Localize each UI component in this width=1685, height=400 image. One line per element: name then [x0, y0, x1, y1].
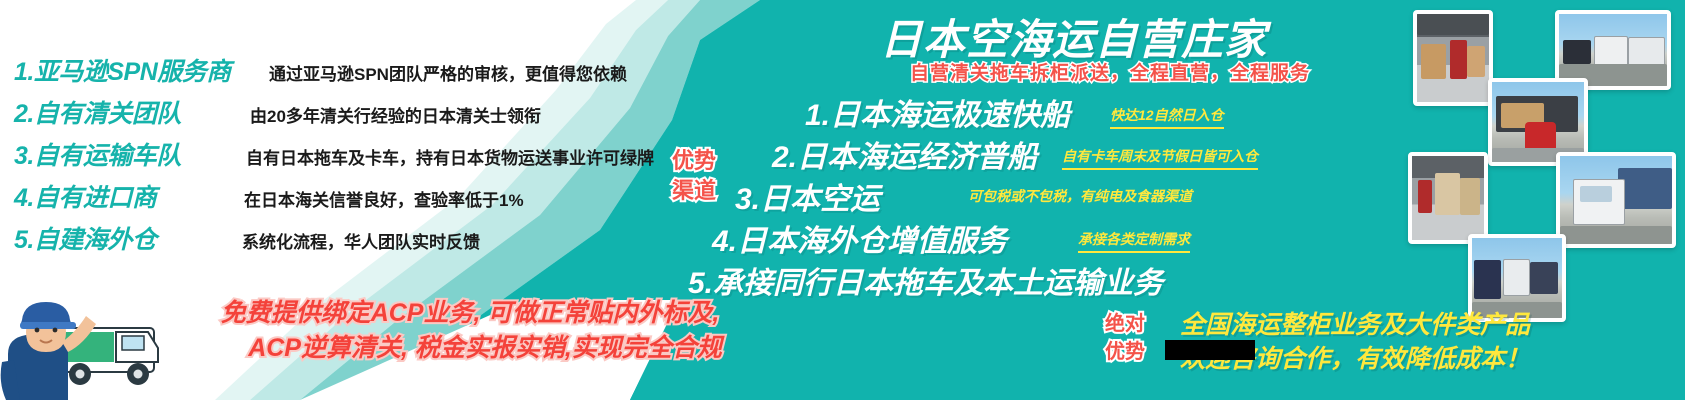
feature-1-title: 1.亚马逊SPN服务商 [14, 52, 269, 88]
feature-row-2: 2.自有清关团队 由20多年清关行经验的日本清关士领衔 [14, 94, 694, 136]
redaction-bar [1165, 340, 1255, 360]
service-3-tag: 可包税或不包税，有纯电及食器渠道 [968, 186, 1192, 208]
service-1-label: 1.日本海运极速快船 [805, 99, 1070, 132]
service-4-label: 4.日本海外仓增值服务 [712, 225, 1007, 258]
banner-subtitle: 自营清关拖车拆柜派送，全程直营，全程服务 [910, 58, 1310, 85]
service-row-1: 1.日本海运极速快船 [805, 90, 1070, 134]
photo-warehouse-pallet-worker [1413, 10, 1493, 106]
service-row-3: 3.日本空运 [735, 174, 880, 218]
service-5-label: 5.承接同行日本拖车及本土运输业务 [688, 267, 1163, 300]
feature-row-1: 1.亚马逊SPN服务商 通过亚马逊SPN团队严格的审核，更值得您依赖 [14, 52, 694, 94]
feature-1-desc: 通过亚马逊SPN团队严格的审核，更值得您依赖 [269, 60, 627, 85]
left-promo-line-2: ACP逆算清关, 税金实报实销,实现完全合规 [220, 331, 750, 366]
service-3-label: 3.日本空运 [735, 183, 880, 216]
service-row-5: 5.承接同行日本拖车及本土运输业务 [688, 258, 1163, 302]
feature-3-title: 3.自有运输车队 [14, 136, 236, 172]
right-promo-line-1: 全国海运整柜业务及大件类产品 [1180, 308, 1530, 342]
feature-2-desc: 由20多年清关行经验的日本清关士领衔 [250, 102, 541, 127]
feature-4-desc: 在日本海关信誉良好，查验率低于1% [244, 186, 524, 211]
worker-illustration [0, 250, 200, 400]
advantage-badge-line-2: 渠道 [672, 176, 716, 206]
photo-warehouse-stacked-cargo [1408, 152, 1488, 244]
left-feature-list: 1.亚马逊SPN服务商 通过亚马逊SPN团队严格的审核，更值得您依赖 2.自有清… [14, 52, 694, 262]
absolute-advantage-badge: 绝对 优势 [1105, 310, 1145, 366]
feature-row-3: 3.自有运输车队 自有日本拖车及卡车，持有日本货物运送事业许可绿牌 [14, 136, 694, 178]
service-row-4: 4.日本海外仓增值服务 [712, 216, 1007, 260]
service-row-2: 2.日本海运经济普船 [772, 132, 1037, 176]
service-4-tag: 承接各类定制需求 [1078, 229, 1190, 253]
bottom-badge-line-2: 优势 [1105, 338, 1145, 366]
service-1-tag: 快达12自然日入仓 [1110, 105, 1224, 129]
left-promo-line-1: 免费提供绑定ACP业务, 可做正常贴内外标及, [190, 296, 750, 331]
feature-3-desc: 自有日本拖车及卡车，持有日本货物运送事业许可绿牌 [246, 144, 654, 169]
feature-4-title: 4.自有进口商 [14, 178, 194, 214]
advantage-badge-line-1: 优势 [672, 146, 716, 176]
advantage-channel-badge: 优势 渠道 [672, 146, 716, 206]
service-2-label: 2.日本海运经济普船 [772, 141, 1037, 174]
feature-5-desc: 系统化流程，华人团队实时反馈 [242, 228, 480, 253]
feature-row-4: 4.自有进口商 在日本海关信誉良好，查验率低于1% [14, 178, 694, 220]
left-bottom-promo: 免费提供绑定ACP业务, 可做正常贴内外标及, ACP逆算清关, 税金实报实销,… [190, 296, 750, 366]
bottom-badge-line-1: 绝对 [1105, 310, 1145, 338]
promotional-banner: 1.亚马逊SPN服务商 通过亚马逊SPN团队严格的审核，更值得您依赖 2.自有清… [0, 0, 1685, 400]
service-2-tag: 自有卡车周末及节假日皆可入仓 [1062, 146, 1258, 170]
photo-container-truck-front [1556, 152, 1676, 248]
feature-2-title: 2.自有清关团队 [14, 94, 236, 130]
